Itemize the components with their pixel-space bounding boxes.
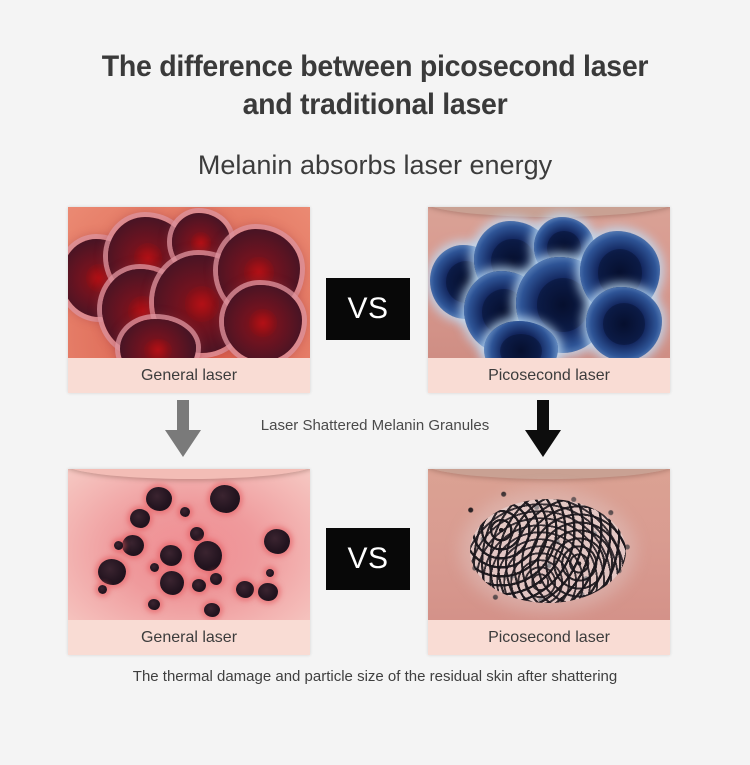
page-title-line-1: The difference between picosecond laser — [19, 48, 732, 86]
card-picosecond-laser-top: Picosecond laser — [428, 207, 670, 393]
card-picosecond-laser-bottom: Picosecond laser — [428, 469, 670, 655]
speckle-scatter-core — [470, 499, 626, 603]
page-title-line-2: and traditional laser — [19, 86, 732, 124]
vs-badge-bottom: VS — [326, 528, 410, 590]
image-general-laser-residual — [68, 469, 310, 620]
middle-caption: Laser Shattered Melanin Granules — [0, 417, 750, 434]
page-title: The difference between picosecond laser … — [19, 48, 732, 125]
vs-badge-top: VS — [326, 278, 410, 340]
artwork-blue-melanin-cells — [428, 207, 670, 358]
card-caption-picosecond-laser-top: Picosecond laser — [428, 358, 670, 393]
card-caption-general-laser-bottom: General laser — [68, 620, 310, 655]
image-general-laser-melanin — [68, 207, 310, 358]
artwork-large-residual-particles — [68, 469, 310, 620]
artwork-fine-shattered-particles — [428, 469, 670, 620]
image-picosecond-laser-residual — [428, 469, 670, 620]
bottom-caption: The thermal damage and particle size of … — [0, 668, 750, 685]
skin-surface-edge — [68, 469, 310, 479]
artwork-red-melanin-cells — [68, 207, 310, 358]
image-picosecond-laser-melanin — [428, 207, 670, 358]
skin-surface-edge — [428, 207, 670, 217]
card-general-laser-top: General laser — [68, 207, 310, 393]
skin-surface-edge — [428, 469, 670, 479]
section-subtitle: Melanin absorbs laser energy — [0, 150, 750, 181]
card-general-laser-bottom: General laser — [68, 469, 310, 655]
card-caption-picosecond-laser-bottom: Picosecond laser — [428, 620, 670, 655]
card-caption-general-laser-top: General laser — [68, 358, 310, 393]
